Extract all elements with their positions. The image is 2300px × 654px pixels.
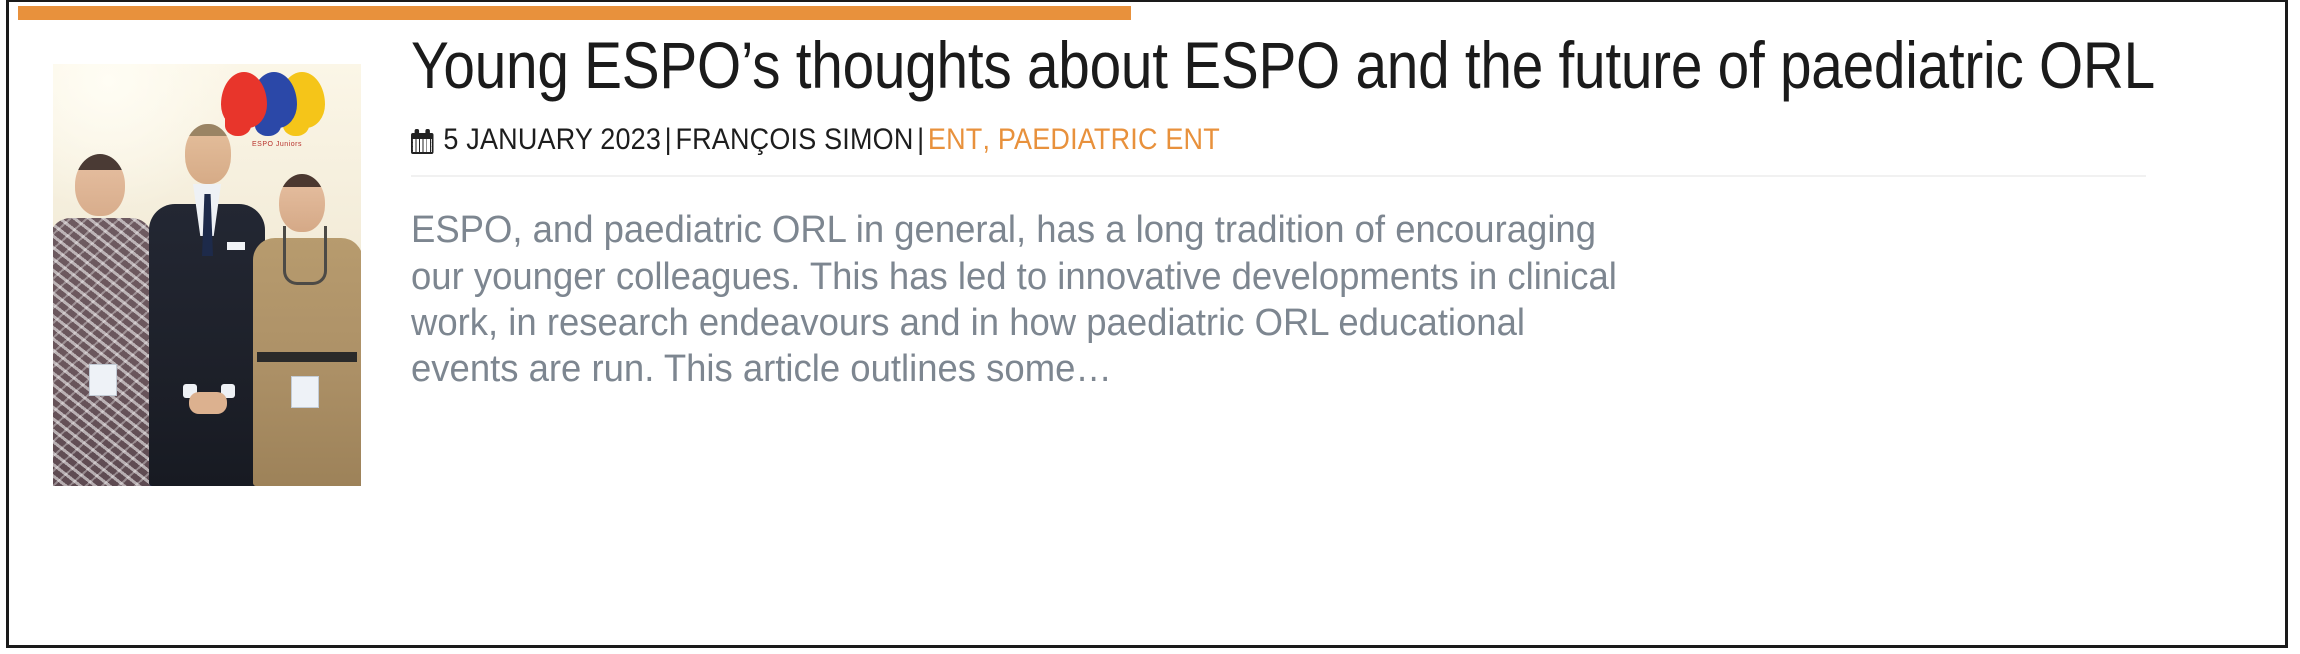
meta-separator-2: | [913,123,927,157]
person-right-belt [257,352,357,362]
photo-person-right [253,168,361,486]
person-right-lanyard [283,226,327,285]
top-accent-bar [18,6,1131,20]
person-right-badge [291,376,319,408]
post-thumbnail-image: ESPO Juniors [53,64,361,486]
post-category-paediatric-ent[interactable]: PAEDIATRIC ENT [998,123,1220,157]
photo-person-centre [149,124,267,486]
person-centre-face [185,124,231,184]
meta-separator-1: | [661,123,675,157]
espo-juniors-logo-caption: ESPO Juniors [225,141,329,148]
person-centre-hands [189,392,227,414]
post-meta: 5 JANUARY 2023 | FRANÇOIS SIMON | ENT, P… [411,123,2022,157]
person-left-badge [89,364,117,396]
page-frame: ESPO Juniors [6,0,2288,648]
post-author: FRANÇOIS SIMON [675,123,913,157]
photo-person-left [53,148,157,486]
logo-head-red-icon [221,72,267,128]
post-category-ent[interactable]: ENT [928,123,983,157]
espo-juniors-logo: ESPO Juniors [221,66,333,144]
post-excerpt: ESPO, and paediatric ORL in general, has… [411,207,1621,392]
article-card[interactable]: ESPO Juniors [9,26,2285,626]
person-left-face [75,154,125,216]
post-thumbnail-link[interactable]: ESPO Juniors [53,64,361,486]
post-content: Young ESPO’s thoughts about ESPO and the… [411,30,2201,431]
person-left-dress [53,218,153,486]
meta-divider [411,175,2146,177]
post-title-link[interactable]: Young ESPO’s thoughts about ESPO and the… [411,30,1950,101]
post-date: 5 JANUARY 2023 [443,123,661,157]
meta-category-separator: , [982,123,990,157]
person-right-face [279,174,325,232]
person-centre-pocket-square [227,242,245,250]
calendar-icon [411,129,434,154]
